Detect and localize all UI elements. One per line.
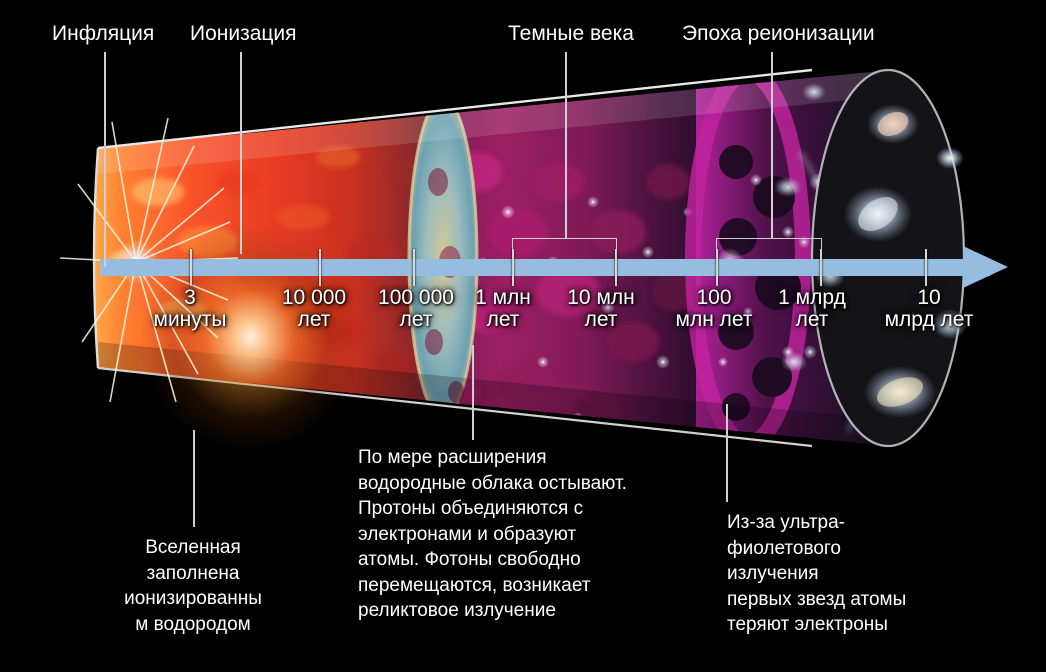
epoch-leader-line <box>240 52 242 254</box>
caption-leader-line <box>193 430 195 527</box>
epoch-label: Эпоха реионизации <box>682 22 875 46</box>
caption-line: Протоны объединяются с <box>358 496 688 522</box>
timeline-tick <box>190 249 192 286</box>
timeline-tick-label: 10млрд лет <box>844 287 1014 331</box>
epoch-label: Ионизация <box>190 22 297 46</box>
caption-line: Вселенная <box>88 535 298 561</box>
caption-leader-line <box>472 345 474 440</box>
big-bang-rays <box>48 62 308 454</box>
caption-reionization: Из-за ультра-фиолетовогоизлученияпервых … <box>727 510 987 638</box>
timeline-tick <box>319 249 321 286</box>
timeline-tick <box>413 249 415 286</box>
caption-line: Из-за ультра- <box>727 510 987 536</box>
epoch-label: Инфляция <box>52 22 154 46</box>
caption-line: излучения <box>727 561 987 587</box>
epoch-leader-line <box>104 52 106 267</box>
reionization-bracket <box>716 238 822 275</box>
timeline-tick <box>925 249 927 286</box>
caption-line: электронами и образуют <box>358 522 688 548</box>
caption-line: м водородом <box>88 612 298 638</box>
epoch-label: Темные века <box>508 22 634 46</box>
caption-line: атомы. Фотоны свободно <box>358 547 688 573</box>
caption-leader-line <box>726 404 728 502</box>
caption-ionized-hydrogen: Вселеннаязаполненаионизированным водород… <box>88 535 298 637</box>
caption-line: перемещаются, возникает <box>358 573 688 599</box>
tick-label-value: 10 <box>844 287 1014 309</box>
tick-label-unit: млрд лет <box>844 309 1014 331</box>
timeline-arrowhead-icon <box>963 246 1008 288</box>
epoch-leader-line <box>565 52 567 238</box>
dark-ages-bracket <box>512 238 617 275</box>
caption-line: первых звезд атомы <box>727 587 987 613</box>
caption-line: водородные облака остывают. <box>358 471 688 497</box>
epoch-leader-line <box>771 52 773 238</box>
caption-line: ионизированны <box>88 586 298 612</box>
caption-line: По мере расширения <box>358 445 688 471</box>
cosmic-timeline-figure: 3минуты10 000лет100 000лет1 млнлет10 млн… <box>0 0 1046 672</box>
caption-line: фиолетового <box>727 536 987 562</box>
caption-line: реликтовое излучение <box>358 598 688 624</box>
caption-recombination: По мере расширенияводородные облака осты… <box>358 445 688 624</box>
caption-line: заполнена <box>88 561 298 587</box>
caption-line: теряют электроны <box>727 612 987 638</box>
